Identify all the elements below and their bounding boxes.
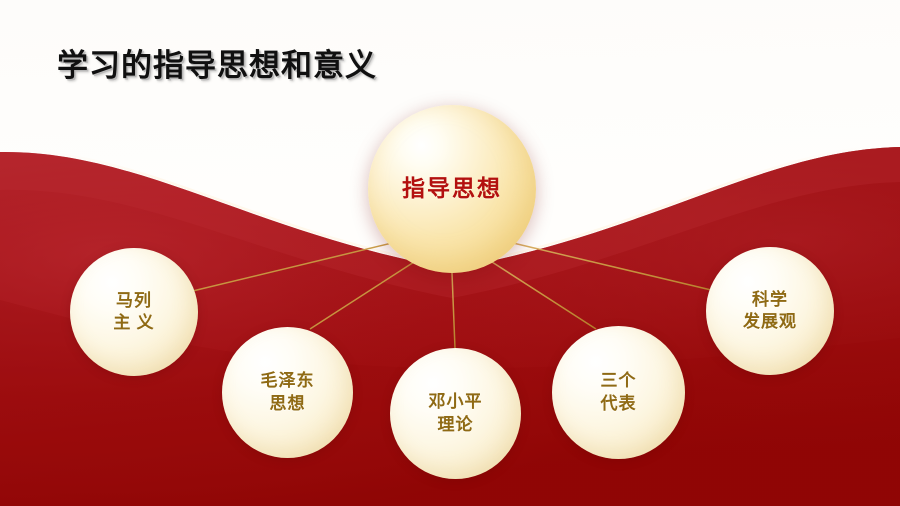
node-scientific-outlook-on-development[interactable]: 科学 发展观 (706, 247, 834, 375)
node-0-label-line-2: 主 义 (113, 312, 154, 334)
center-node-label-line-1: 指导思想 (402, 174, 502, 204)
node-3-label-line-2: 代表 (601, 393, 637, 415)
node-2-label-line-1: 邓小平 (429, 391, 483, 413)
node-3-label-line-1: 三个 (601, 370, 637, 392)
node-three-represents[interactable]: 三个 代表 (552, 326, 685, 459)
node-2-label-line-2: 理论 (438, 414, 474, 436)
node-mao-zedong-thought[interactable]: 毛泽东 思想 (222, 327, 353, 458)
node-4-label-line-2: 发展观 (743, 311, 797, 333)
node-marxism-leninism[interactable]: 马列 主 义 (70, 248, 198, 376)
node-1-label-line-1: 毛泽东 (261, 370, 315, 392)
node-0-label-line-1: 马列 (116, 290, 152, 312)
node-4-label-line-1: 科学 (752, 289, 788, 311)
slide-canvas: 学习的指导思想和意义 指导思想 马列 主 义 毛泽东 思想 邓小平 理 (0, 0, 900, 506)
page-title: 学习的指导思想和意义 (57, 40, 377, 85)
center-node-guiding-thought[interactable]: 指导思想 (368, 105, 536, 273)
node-deng-xiaoping-theory[interactable]: 邓小平 理论 (390, 348, 521, 479)
node-1-label-line-2: 思想 (270, 393, 306, 415)
